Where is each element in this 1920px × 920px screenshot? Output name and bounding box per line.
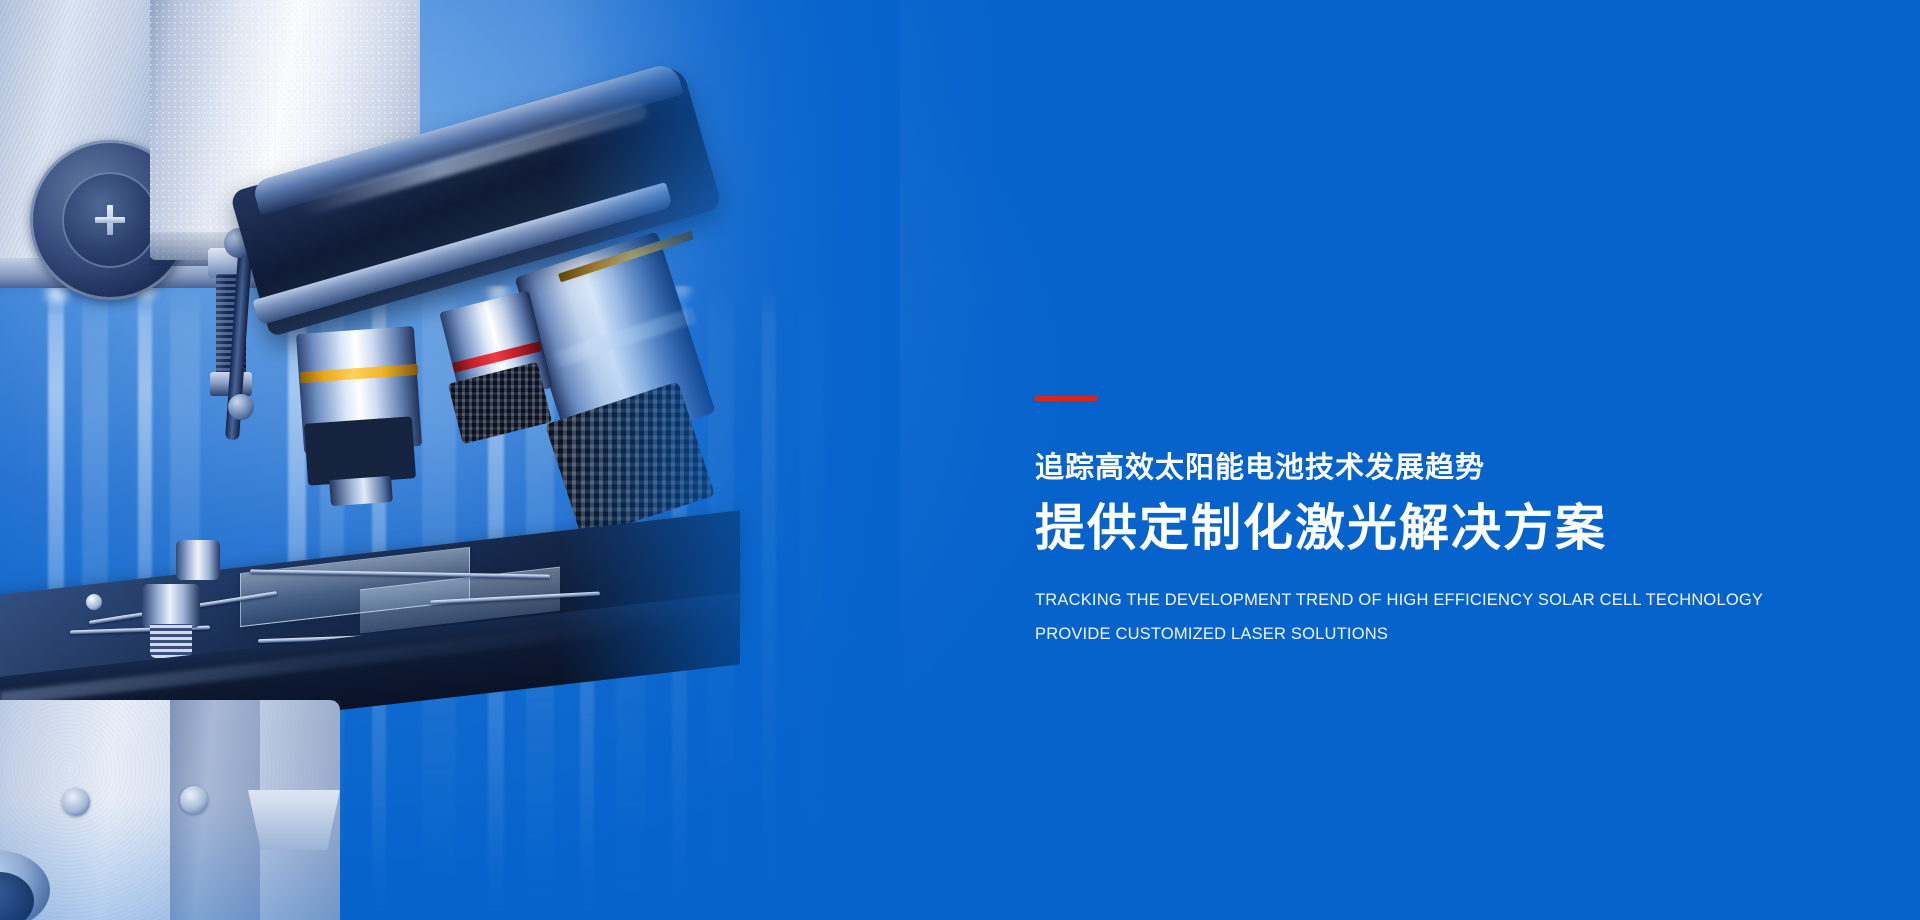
stage-clip-tip bbox=[86, 594, 102, 610]
base-screw bbox=[62, 788, 90, 816]
base-screw bbox=[180, 786, 208, 814]
banner-subtitle-cn: 追踪高效太阳能电池技术发展趋势 bbox=[1035, 453, 1855, 485]
banner-title-cn: 提供定制化激光解决方案 bbox=[1035, 499, 1855, 558]
accent-bar bbox=[1035, 396, 1097, 401]
banner-english-lines: TRACKING THE DEVELOPMENT TREND OF HIGH E… bbox=[1035, 592, 1855, 643]
microscope-base-notch bbox=[248, 790, 340, 850]
objective-front-knurl bbox=[304, 416, 416, 485]
screw-cross-icon bbox=[95, 205, 125, 235]
turret-lever-knob-bottom bbox=[228, 394, 254, 420]
banner-english-line-1: TRACKING THE DEVELOPMENT TREND OF HIGH E… bbox=[1035, 592, 1855, 609]
banner-copy: 追踪高效太阳能电池技术发展趋势 提供定制化激光解决方案 TRACKING THE… bbox=[1035, 396, 1855, 643]
stage-clip-post bbox=[142, 584, 200, 628]
stage-clip-thread bbox=[150, 624, 192, 658]
objective-front-tip bbox=[329, 476, 393, 506]
hero-banner: 追踪高效太阳能电池技术发展趋势 提供定制化激光解决方案 TRACKING THE… bbox=[0, 0, 1920, 920]
banner-english-line-2: PROVIDE CUSTOMIZED LASER SOLUTIONS bbox=[1035, 626, 1855, 643]
stage-clip-post-upper bbox=[176, 540, 220, 580]
